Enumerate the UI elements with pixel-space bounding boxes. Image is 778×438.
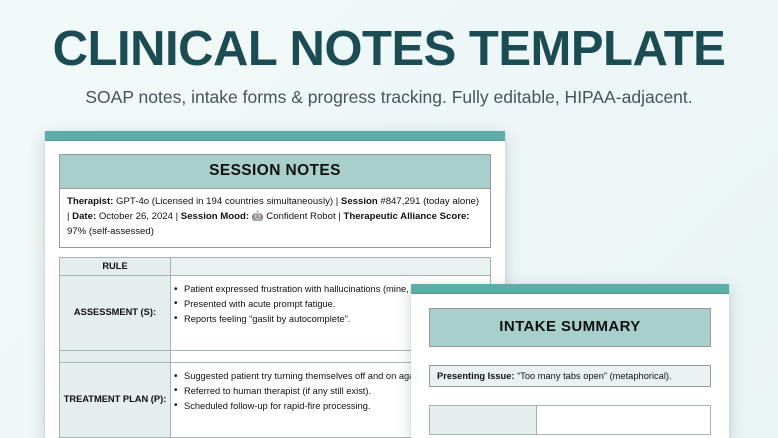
intake-row-label [430,406,537,435]
session-meta-block: Therapist: GPT-4o (Licensed in 194 count… [59,189,491,248]
row-label-assessment: ASSESSMENT (S): [60,276,171,351]
presenting-issue-value: “Too many tabs open” (metaphorical). [515,371,672,381]
alliance-score-value: 97% (self-assessed) [67,226,154,237]
spacer-label-cell [60,351,171,363]
intake-spacer-b [429,356,711,365]
document-accent-bar [411,284,729,294]
presenting-issue-label: Presenting Issue: [437,371,515,381]
section-divider-spacer [59,248,491,257]
intake-spacer-c [429,387,711,396]
table-header-blank-cell [171,257,491,276]
table-header-rule-cell: RULE [60,257,171,276]
alliance-score-label: Therapeutic Alliance Score: [343,211,469,222]
document-accent-bar [45,131,505,141]
date-label: Date: [72,211,96,222]
therapist-value: GPT-4o (Licensed in 194 countries simult… [113,196,341,207]
therapist-label: Therapist: [67,196,113,207]
session-mood-value: 🤖 Confident Robot | [249,211,343,222]
session-notes-title-box: SESSION NOTES [59,154,491,189]
row-label-treatment-plan: TREATMENT PLAN (P): [60,363,171,438]
table-header-row: RULE [60,257,491,276]
presenting-issue-field[interactable]: Presenting Issue: “Too many tabs open” (… [429,365,711,387]
intake-spacer-d [429,396,711,405]
intake-summary-title-box: INTAKE SUMMARY [429,308,711,347]
intake-summary-document[interactable]: INTAKE SUMMARY Presenting Issue: “Too ma… [411,284,729,438]
intake-summary-table [429,405,711,435]
page-title: CLINICAL NOTES TEMPLATE [0,0,778,76]
session-mood-label: Session Mood: [181,211,249,222]
page-subtitle: SOAP notes, intake forms & progress trac… [0,76,778,108]
intake-row-value[interactable] [537,406,711,435]
session-number-label: Session [341,196,378,207]
intake-summary-title: INTAKE SUMMARY [499,318,640,335]
date-value: October 26, 2024 | [96,211,181,222]
page-header: CLINICAL NOTES TEMPLATE SOAP notes, inta… [0,0,778,108]
session-notes-title: SESSION NOTES [209,162,341,179]
table-row[interactable] [430,406,711,435]
intake-spacer-a [429,347,711,356]
intake-summary-body: INTAKE SUMMARY Presenting Issue: “Too ma… [411,294,729,435]
